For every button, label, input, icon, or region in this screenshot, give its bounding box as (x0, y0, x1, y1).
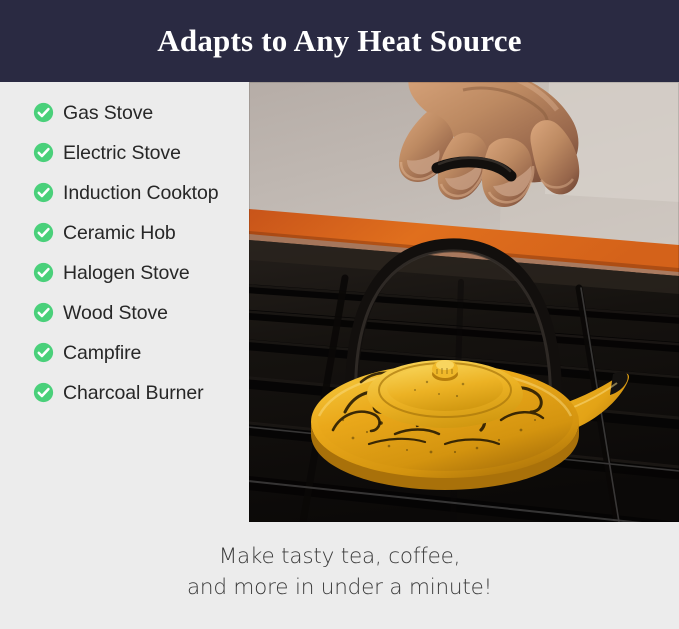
list-item: Electric Stove (33, 140, 241, 166)
list-item-label: Wood Stove (63, 300, 168, 326)
list-item: Gas Stove (33, 100, 241, 126)
list-item-label: Charcoal Burner (63, 380, 204, 406)
product-photo (249, 82, 679, 522)
check-circle-icon (33, 342, 54, 363)
list-item-label: Gas Stove (63, 100, 153, 126)
feature-list: Gas Stove Electric Stove (0, 82, 249, 420)
list-item-label: Halogen Stove (63, 260, 190, 286)
list-item: Induction Cooktop (33, 180, 241, 206)
check-circle-icon (33, 182, 54, 203)
list-item: Campfire (33, 340, 241, 366)
list-item: Charcoal Burner (33, 380, 241, 406)
list-item-label: Campfire (63, 340, 141, 366)
check-circle-icon (33, 102, 54, 123)
content-row: Gas Stove Electric Stove (0, 82, 679, 522)
list-item: Ceramic Hob (33, 220, 241, 246)
check-circle-icon (33, 262, 54, 283)
list-item-label: Ceramic Hob (63, 220, 176, 246)
list-item-label: Electric Stove (63, 140, 181, 166)
check-circle-icon (33, 382, 54, 403)
list-item: Halogen Stove (33, 260, 241, 286)
check-circle-icon (33, 142, 54, 163)
caption-line-2: and more in under a minute! (187, 572, 492, 603)
caption-block: Make tasty tea, coffee, and more in unde… (0, 522, 679, 629)
caption-line-1: Make tasty tea, coffee, (187, 541, 492, 572)
list-item-label: Induction Cooktop (63, 180, 219, 206)
infographic-root: Adapts to Any Heat Source Gas Stove (0, 0, 679, 629)
caption-text: Make tasty tea, coffee, and more in unde… (187, 541, 492, 603)
check-circle-icon (33, 302, 54, 323)
header-banner: Adapts to Any Heat Source (0, 0, 679, 82)
list-item: Wood Stove (33, 300, 241, 326)
check-circle-icon (33, 222, 54, 243)
page-title: Adapts to Any Heat Source (157, 24, 521, 58)
